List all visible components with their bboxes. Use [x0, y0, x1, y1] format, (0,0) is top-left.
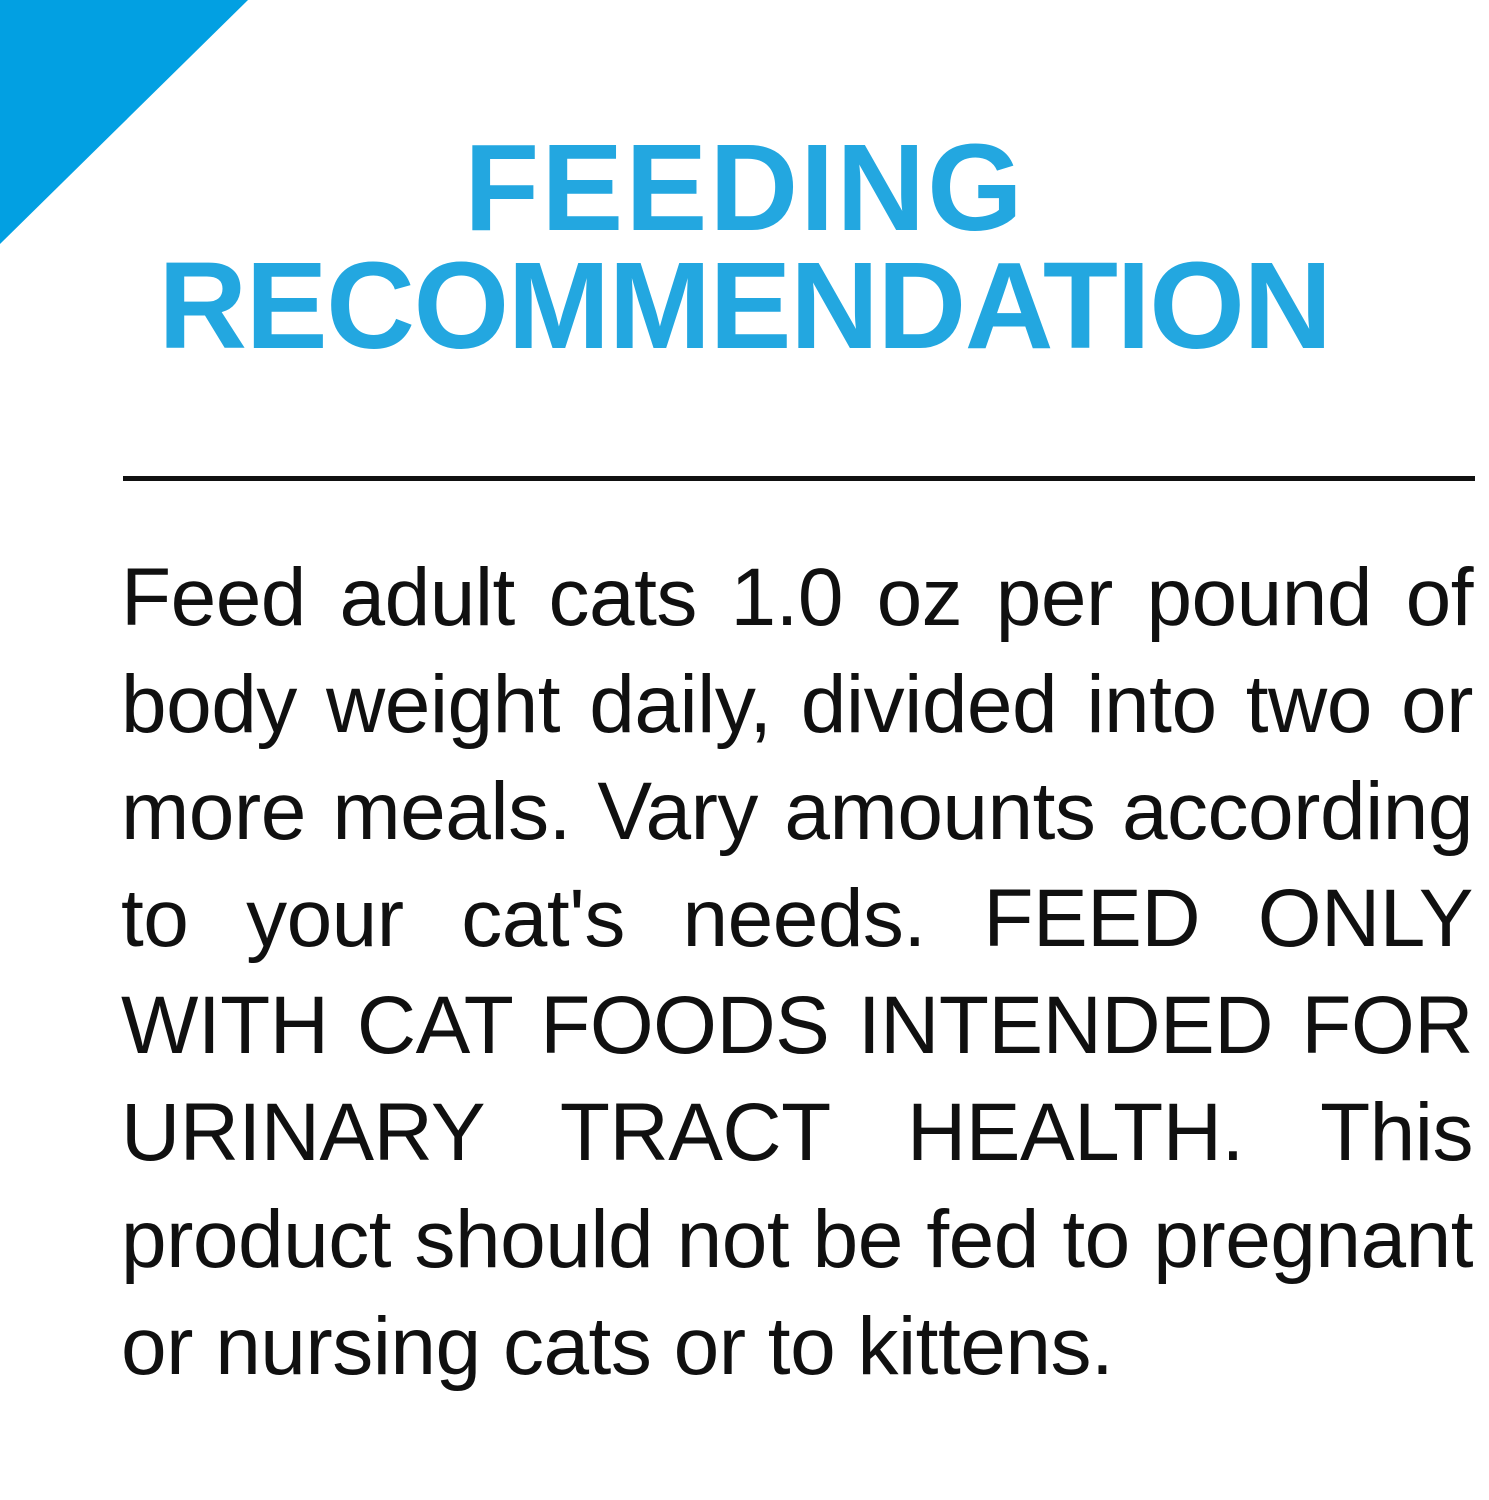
body-line: cats or to kittens. — [503, 1301, 1113, 1392]
page-title-line-1: FEEDING — [0, 130, 1489, 248]
feeding-recommendation-panel: FEEDING RECOMMENDATION Feed adult cats 1… — [0, 0, 1489, 1500]
page-title: FEEDING RECOMMENDATION — [0, 130, 1489, 366]
heading-divider — [123, 476, 1475, 481]
page-title-line-2: RECOMMENDATION — [0, 248, 1489, 366]
feeding-instructions-text: Feed adult cats 1.0 oz per pound of body… — [121, 544, 1473, 1400]
body-line: Feed adult cats 1.0 oz per pound — [121, 552, 1372, 643]
